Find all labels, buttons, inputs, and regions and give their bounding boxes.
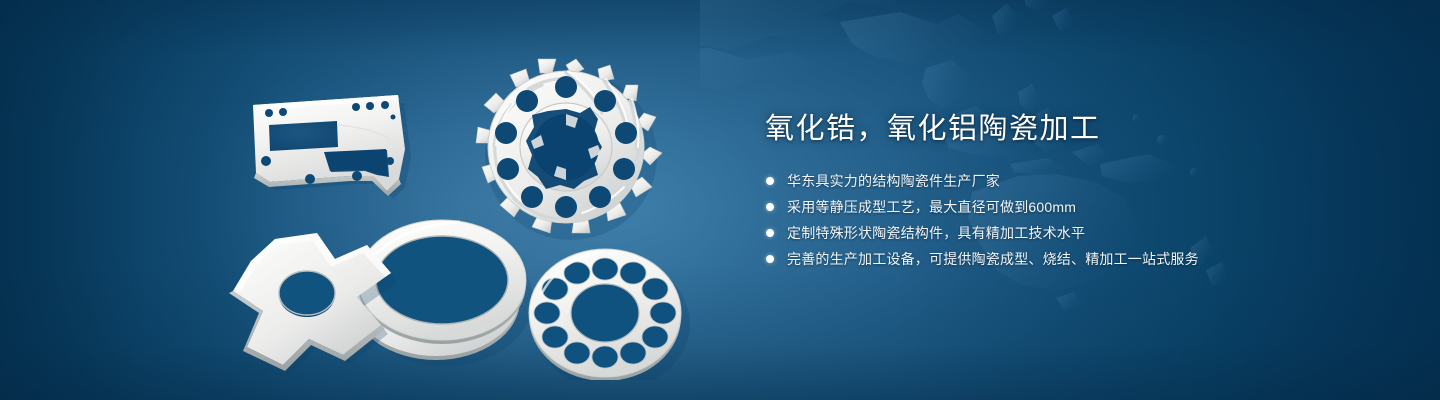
bullet-dot-icon bbox=[766, 203, 774, 211]
feature-list: 华东具实力的结构陶瓷件生产厂家 采用等静压成型工艺，最大直径可做到600mm 定… bbox=[765, 172, 1405, 268]
feature-text: 定制特殊形状陶瓷结构件，具有精加工技术水平 bbox=[787, 225, 1085, 241]
ceramic-plate-with-cutouts bbox=[253, 95, 411, 199]
ceramic-impeller-disc bbox=[476, 59, 662, 240]
feature-list-item: 定制特殊形状陶瓷结构件，具有精加工技术水平 bbox=[765, 224, 1405, 242]
feature-list-item: 采用等静压成型工艺，最大直径可做到600mm bbox=[765, 198, 1405, 216]
feature-list-item: 华东具实力的结构陶瓷件生产厂家 bbox=[765, 172, 1405, 190]
ceramic-products-photo bbox=[225, 35, 725, 380]
feature-list-item: 完善的生产加工设备，可提供陶瓷成型、烧结、精加工一站式服务 bbox=[765, 250, 1405, 268]
ceramic-product-banner: 氧化锆，氧化铝陶瓷加工 华东具实力的结构陶瓷件生产厂家 采用等静压成型工艺，最大… bbox=[0, 0, 1440, 400]
bullet-dot-icon bbox=[766, 255, 774, 263]
ceramic-perforated-disc bbox=[529, 249, 690, 380]
marketing-text-block: 氧化锆，氧化铝陶瓷加工 华东具实力的结构陶瓷件生产厂家 采用等静压成型工艺，最大… bbox=[765, 112, 1405, 268]
bullet-dot-icon bbox=[766, 177, 774, 185]
feature-text: 采用等静压成型工艺，最大直径可做到600mm bbox=[787, 199, 1076, 215]
bullet-dot-icon bbox=[766, 229, 774, 237]
feature-text: 完善的生产加工设备，可提供陶瓷成型、烧结、精加工一站式服务 bbox=[787, 251, 1199, 267]
feature-text: 华东具实力的结构陶瓷件生产厂家 bbox=[787, 173, 1000, 189]
banner-headline: 氧化锆，氧化铝陶瓷加工 bbox=[765, 112, 1405, 146]
